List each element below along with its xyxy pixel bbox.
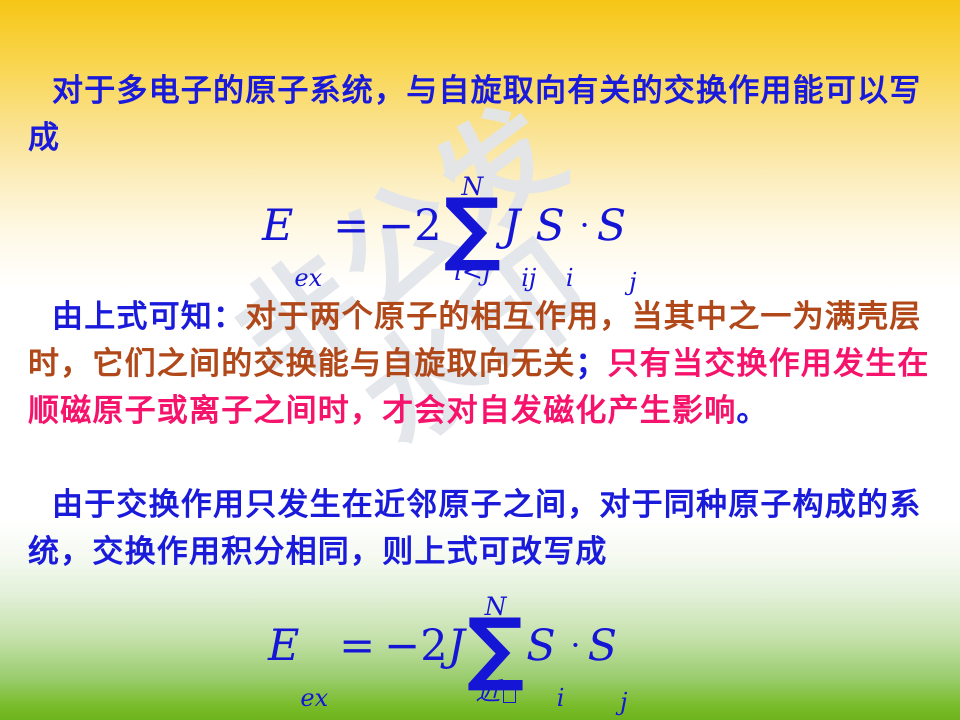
formula1-coefficient: 2 — [414, 205, 441, 248]
formula2-row: Eex = − 2 J N ∑ 近 Si · Sj — [268, 592, 626, 702]
formula2-S1: S — [526, 625, 555, 668]
formula2-minus: − — [384, 625, 420, 668]
formula1-J-subscript: ij — [521, 266, 536, 290]
formula1-equals: = — [333, 205, 369, 248]
formula2-S1-subscript: i — [557, 686, 565, 710]
paragraph-1: 对于多电子的原子系统，与自旋取向有关的交换作用能可以写成 — [28, 68, 938, 162]
formula2-E-subscript: ex — [300, 686, 328, 710]
formula2-E: E — [268, 625, 299, 668]
formula2-S2: S — [588, 625, 617, 668]
paragraph-2-segment-blue-intro: 由上式可知： — [28, 299, 245, 335]
formula1-E: E — [262, 205, 293, 248]
missing-glyph-box-icon — [503, 684, 516, 703]
formula1-S2: S — [597, 205, 626, 248]
formula1-dot-product: · — [580, 209, 590, 241]
formula1-J: J — [503, 205, 520, 248]
formula-exchange-energy-full: Eex = − 2 N ∑ i<j Jij Si · Sj — [262, 172, 636, 282]
formula1-minus: − — [378, 205, 414, 248]
formula1-row: Eex = − 2 N ∑ i<j Jij Si · Sj — [262, 172, 636, 282]
sigma-icon: ∑ — [467, 615, 524, 681]
formula2-summation: N ∑ 近 — [467, 594, 524, 704]
formula2-S2-subscript: j — [620, 690, 627, 714]
formula1-sum-lower-limit: i<j — [454, 259, 491, 284]
paragraph-2: 由上式可知：对于两个原子的相互作用，当其中之一为满壳层时，它们之间的交换能与自旋… — [28, 294, 943, 435]
formula-exchange-energy-nearest-neighbour: Eex = − 2 J N ∑ 近 Si · Sj — [268, 592, 626, 702]
formula2-dot-product: · — [570, 629, 580, 661]
formula2-sum-lower-char: 近 — [476, 677, 501, 706]
formula1-S1-subscript: i — [566, 266, 574, 290]
formula1-summation: N ∑ i<j — [444, 174, 501, 284]
formula1-E-subscript: ex — [294, 266, 322, 290]
paragraph-3: 由于交换作用只发生在近邻原子之间，对于同种原子构成的系统，交换作用积分相同，则上… — [28, 482, 943, 576]
slide-canvas: 非公发水印 对于多电子的原子系统，与自旋取向有关的交换作用能可以写成 Eex =… — [0, 0, 960, 720]
sigma-icon: ∑ — [444, 195, 501, 261]
formula1-S1: S — [535, 205, 564, 248]
formula2-J: J — [448, 625, 465, 668]
formula2-sum-lower-limit: 近 — [476, 679, 516, 704]
paragraph-2-segment-blue-period: 。 — [736, 393, 768, 429]
formula1-S2-subscript: j — [629, 270, 636, 294]
formula2-equals: = — [339, 625, 375, 668]
paragraph-2-segment-blue-semicolon: ； — [575, 346, 607, 382]
formula2-coefficient: 2 — [420, 625, 447, 668]
